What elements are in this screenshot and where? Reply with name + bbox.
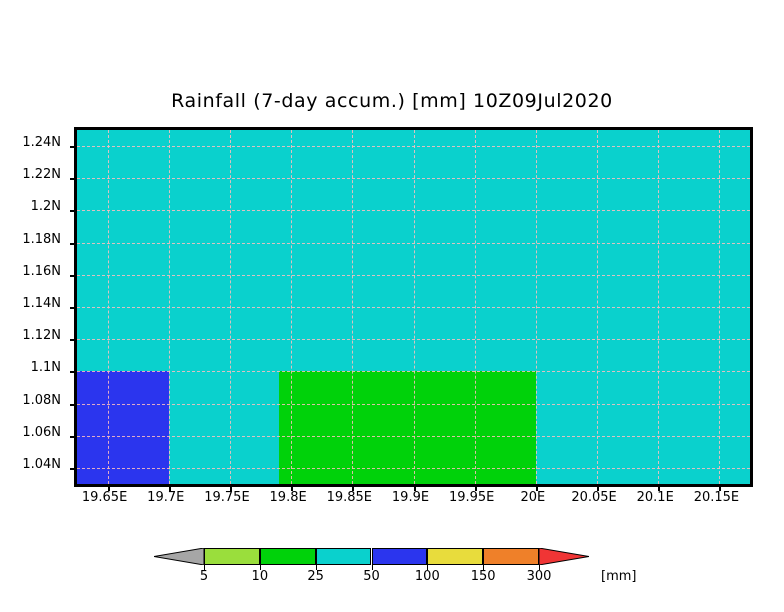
y-axis-tick bbox=[70, 243, 77, 245]
y-axis-label: 1.12N bbox=[0, 328, 61, 343]
y-axis-tick bbox=[70, 404, 77, 406]
y-axis-label: 1.1N bbox=[0, 360, 61, 375]
gridline-horizontal bbox=[77, 371, 750, 372]
colorbar-tick-label: 50 bbox=[342, 569, 402, 584]
gridline-horizontal bbox=[77, 178, 750, 179]
gridline-horizontal bbox=[77, 210, 750, 211]
y-axis-label: 1.24N bbox=[0, 135, 61, 150]
colorbar-unit-label: [mm] bbox=[601, 569, 636, 584]
y-axis-tick bbox=[70, 178, 77, 180]
rainfall-map-figure: Rainfall (7-day accum.) [mm] 10Z09Jul202… bbox=[0, 0, 784, 612]
colorbar-tick-label: 100 bbox=[397, 569, 457, 584]
y-axis-tick bbox=[70, 371, 77, 373]
colorbar-segment-10-25 bbox=[260, 548, 316, 565]
plot-area bbox=[77, 130, 750, 484]
y-axis-label: 1.08N bbox=[0, 393, 61, 408]
y-axis-label: 1.04N bbox=[0, 457, 61, 472]
y-axis-label: 1.22N bbox=[0, 167, 61, 182]
colorbar-tick-label: 5 bbox=[174, 569, 234, 584]
y-axis-tick bbox=[70, 339, 77, 341]
y-axis-tick bbox=[70, 210, 77, 212]
colorbar-tick-label: 25 bbox=[286, 569, 346, 584]
colorbar-segment-50-100 bbox=[372, 548, 428, 565]
colorbar-tick-label: 150 bbox=[453, 569, 513, 584]
colorbar-tick-label: 300 bbox=[509, 569, 569, 584]
gridline-horizontal bbox=[77, 339, 750, 340]
y-axis-label: 1.16N bbox=[0, 264, 61, 279]
y-axis-label: 1.2N bbox=[0, 199, 61, 214]
colorbar-segment-150-300 bbox=[483, 548, 539, 565]
x-axis-label: 20.15E bbox=[666, 490, 766, 505]
plot-frame bbox=[74, 127, 753, 487]
chart-title: Rainfall (7-day accum.) [mm] 10Z09Jul202… bbox=[0, 90, 784, 112]
y-axis-label: 1.18N bbox=[0, 232, 61, 247]
y-axis-tick bbox=[70, 275, 77, 277]
colorbar: [mm] 5102550100150300 bbox=[0, 540, 784, 590]
colorbar-segment-100-150 bbox=[427, 548, 483, 565]
y-axis-tick bbox=[70, 468, 77, 470]
gridline-horizontal bbox=[77, 275, 750, 276]
colorbar-tick-label: 10 bbox=[230, 569, 290, 584]
gridline-horizontal bbox=[77, 468, 750, 469]
colorbar-segment-25-50 bbox=[316, 548, 372, 565]
y-axis-tick bbox=[70, 146, 77, 148]
gridline-horizontal bbox=[77, 436, 750, 437]
colorbar-segment-overflow bbox=[539, 548, 589, 565]
gridline-horizontal bbox=[77, 243, 750, 244]
gridline-horizontal bbox=[77, 307, 750, 308]
colorbar-segment-5-10 bbox=[204, 548, 260, 565]
y-axis-label: 1.14N bbox=[0, 296, 61, 311]
y-axis-label: 1.06N bbox=[0, 425, 61, 440]
y-axis-tick bbox=[70, 436, 77, 438]
gridline-horizontal bbox=[77, 404, 750, 405]
gridline-horizontal bbox=[77, 146, 750, 147]
colorbar-segment-underflow bbox=[154, 548, 204, 565]
y-axis-tick bbox=[70, 307, 77, 309]
